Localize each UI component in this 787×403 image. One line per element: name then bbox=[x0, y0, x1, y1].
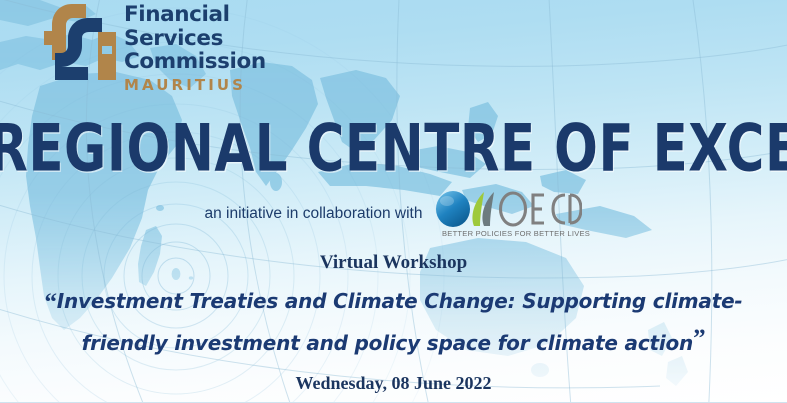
workshop-title-line-1: “Investment Treaties and Climate Change:… bbox=[0, 283, 787, 321]
fsc-line-3: Commission bbox=[124, 50, 266, 74]
quote-close: ” bbox=[693, 325, 705, 352]
fsc-country: MAURITIUS bbox=[124, 76, 266, 94]
event-details: Virtual Workshop “Investment Treaties an… bbox=[0, 252, 787, 394]
oecd-mark-icon bbox=[434, 190, 582, 232]
collaboration-text: an initiative in collaboration with bbox=[205, 205, 423, 223]
fsc-logo: Financial Services Commission MAURITIUS bbox=[42, 2, 266, 94]
oecd-logo: BETTER POLICIES FOR BETTER LIVES bbox=[434, 190, 582, 238]
collaboration-row: an initiative in collaboration with BETT… bbox=[0, 190, 787, 238]
fsc-wordmark: Financial Services Commission MAURITIUS bbox=[124, 2, 266, 94]
fsc-line-2: Services bbox=[124, 27, 266, 51]
event-date: Wednesday, 08 June 2022 bbox=[0, 373, 787, 394]
event-kicker: Virtual Workshop bbox=[0, 252, 787, 274]
workshop-title-text-1: Investment Treaties and Climate Change: … bbox=[57, 289, 743, 313]
fsc-line-1: Financial bbox=[124, 3, 266, 27]
fsc-monogram-icon bbox=[42, 2, 118, 82]
oecd-tagline: BETTER POLICIES FOR BETTER LIVES bbox=[442, 229, 590, 238]
quote-open: “ bbox=[44, 289, 56, 316]
workshop-title-line-2: friendly investment and policy space for… bbox=[0, 321, 787, 361]
workshop-title-text-2: friendly investment and policy space for… bbox=[82, 331, 693, 355]
event-banner: Financial Services Commission MAURITIUS … bbox=[0, 0, 787, 403]
page-title: REGIONAL CENTRE OF EXCELLENCE bbox=[0, 112, 787, 185]
